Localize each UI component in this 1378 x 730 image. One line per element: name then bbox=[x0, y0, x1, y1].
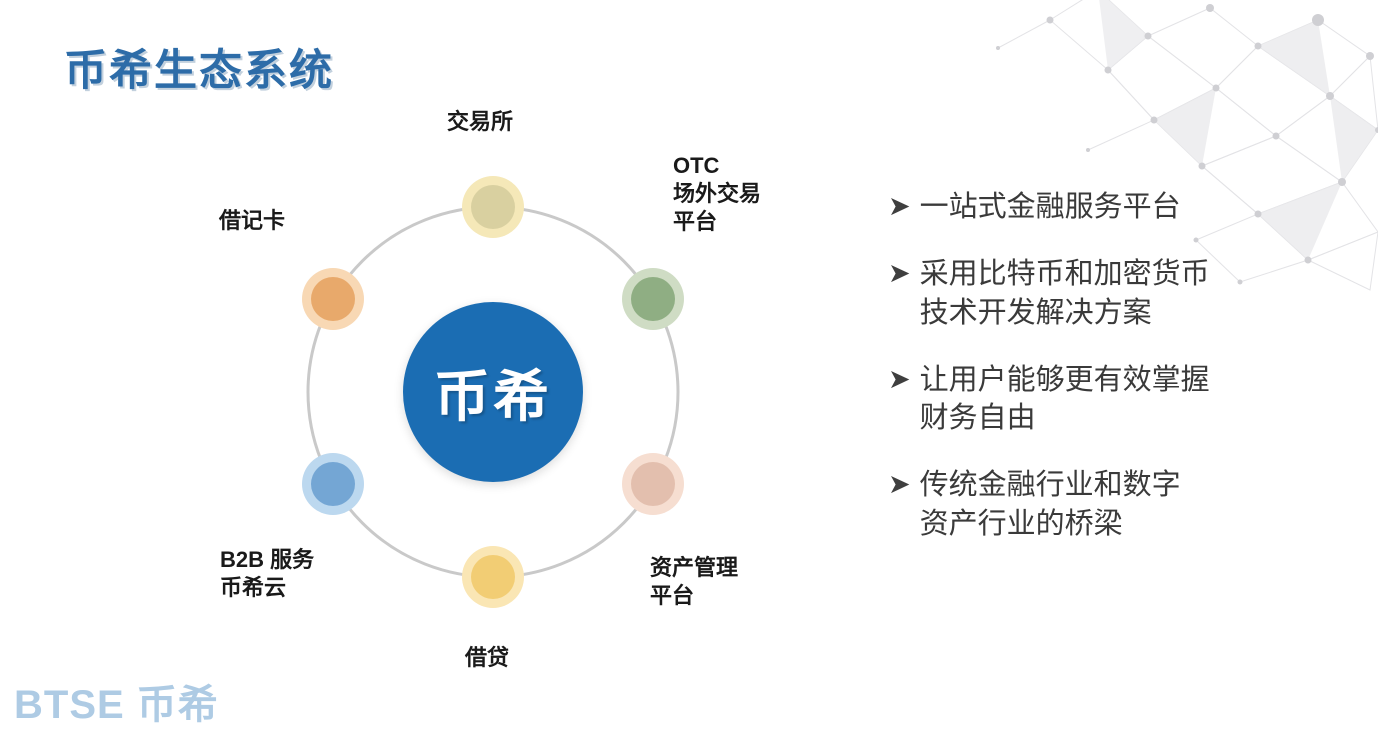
node-debit-card-core bbox=[311, 277, 355, 321]
node-debit-card-label: 借记卡 bbox=[219, 207, 285, 235]
arrow-bullet-icon: ➤ bbox=[888, 466, 911, 502]
node-otc-core bbox=[631, 277, 675, 321]
arrow-bullet-icon: ➤ bbox=[888, 361, 911, 397]
bullet-item-text: 一站式金融服务平台 bbox=[920, 188, 1181, 227]
ecosystem-diagram: 币希 交易所 OTC 场外交易 平台 资产管理 平台 借贷 B2B 服务 币希云 bbox=[0, 90, 880, 690]
footer-brand-logo: BTSE 币希 bbox=[14, 672, 219, 730]
bullet-item-text: 采用比特币和加密货币 技术开发解决方案 bbox=[920, 255, 1210, 333]
bullet-item-text: 传统金融行业和数字 资产行业的桥梁 bbox=[920, 466, 1181, 544]
node-b2b-label: B2B 服务 币希云 bbox=[220, 546, 314, 602]
arrow-bullet-icon: ➤ bbox=[888, 255, 911, 291]
node-otc[interactable] bbox=[622, 268, 684, 330]
node-lending[interactable] bbox=[462, 546, 524, 608]
page-title: 币希生态系统 bbox=[64, 36, 334, 98]
bullet-item: ➤ 让用户能够更有效掌握 财务自由 bbox=[888, 361, 1338, 439]
node-exchange-core bbox=[471, 185, 515, 229]
node-b2b[interactable] bbox=[302, 453, 364, 515]
node-otc-label: OTC 场外交易 平台 bbox=[673, 152, 761, 236]
arrow-bullet-icon: ➤ bbox=[888, 188, 911, 224]
node-asset-management-core bbox=[631, 462, 675, 506]
node-lending-label: 借贷 bbox=[465, 644, 509, 672]
node-lending-core bbox=[471, 555, 515, 599]
node-b2b-core bbox=[311, 462, 355, 506]
bullet-item: ➤ 传统金融行业和数字 资产行业的桥梁 bbox=[888, 466, 1338, 544]
slide-canvas: 币希生态系统 币希 交易所 OTC 场外交易 平台 资产管理 平台 借贷 bbox=[0, 0, 1378, 716]
node-asset-management-label: 资产管理 平台 bbox=[650, 554, 738, 610]
center-hub[interactable]: 币希 bbox=[403, 302, 583, 482]
node-exchange-label: 交易所 bbox=[447, 108, 513, 136]
node-debit-card[interactable] bbox=[302, 268, 364, 330]
center-hub-label: 币希 bbox=[403, 302, 583, 482]
bullet-item-text: 让用户能够更有效掌握 财务自由 bbox=[920, 361, 1210, 439]
feature-bullet-list: ➤ 一站式金融服务平台 ➤ 采用比特币和加密货币 技术开发解决方案 ➤ 让用户能… bbox=[888, 188, 1338, 572]
bullet-item: ➤ 采用比特币和加密货币 技术开发解决方案 bbox=[888, 255, 1338, 333]
node-exchange[interactable] bbox=[462, 176, 524, 238]
bullet-item: ➤ 一站式金融服务平台 bbox=[888, 188, 1338, 227]
node-asset-management[interactable] bbox=[622, 453, 684, 515]
